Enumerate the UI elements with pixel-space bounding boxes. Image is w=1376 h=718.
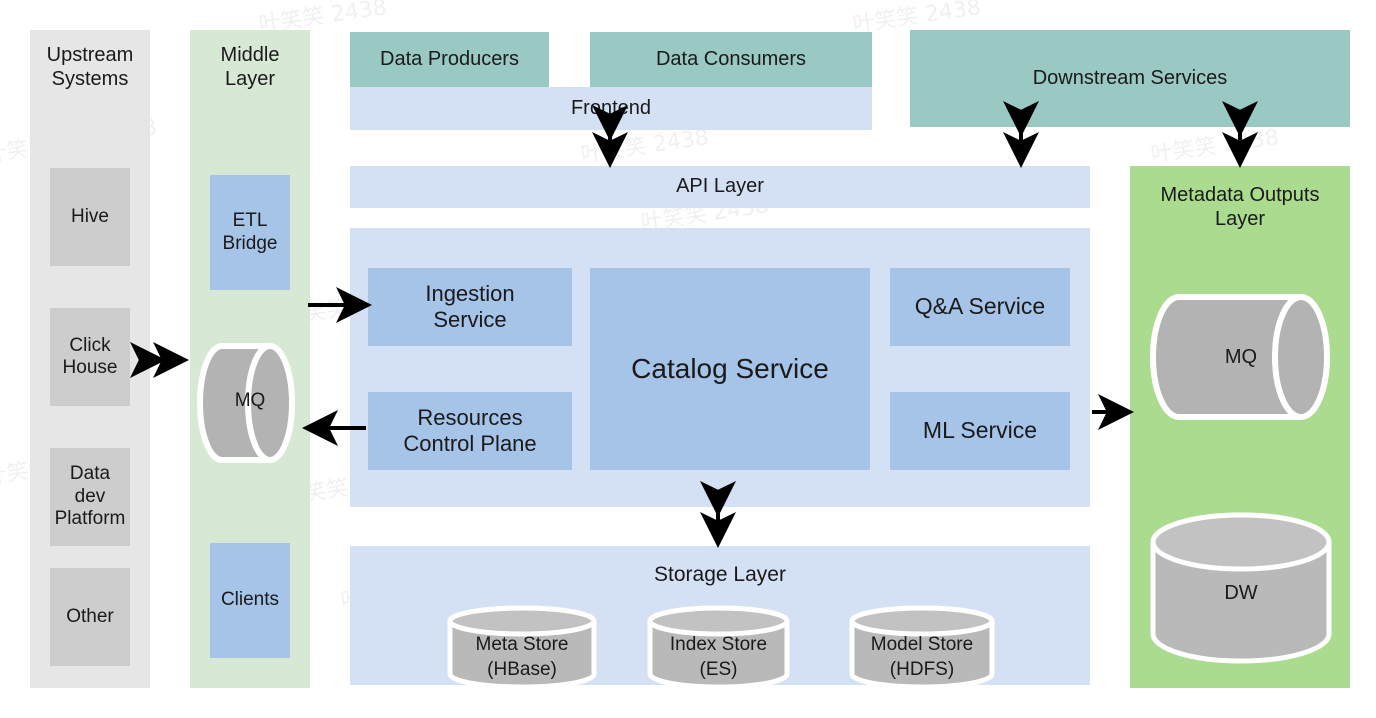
upstream-node-data-dev-platform[interactable]: Data dev Platform (50, 448, 130, 546)
resources-line2: Control Plane (403, 431, 536, 456)
clients-label: Clients (221, 589, 279, 611)
index-store-line1: Index Store (670, 634, 767, 655)
api-layer-label: API Layer (676, 175, 764, 199)
data-consumers-box[interactable]: Data Consumers (590, 32, 872, 87)
hive-label: Hive (71, 206, 109, 227)
clickhouse-label-line2: House (63, 357, 118, 378)
downstream-services-box[interactable]: Downstream Services (910, 30, 1350, 127)
metadata-outputs-line1: Metadata Outputs (1161, 184, 1320, 206)
ml-service-label: ML Service (923, 417, 1037, 444)
resources-control-plane-box[interactable]: Resources Control Plane (368, 392, 572, 470)
storage-layer-title: Storage Layer (350, 563, 1090, 588)
datadev-label-line2: dev (75, 486, 106, 507)
storage-layer-label: Storage Layer (654, 563, 786, 586)
model-store-line2: (HDFS) (890, 659, 954, 680)
qa-service-box[interactable]: Q&A Service (890, 268, 1070, 346)
index-store-cylinder[interactable]: Index Store (ES) (646, 605, 791, 690)
other-label: Other (66, 606, 114, 627)
clickhouse-label-line1: Click (69, 335, 110, 356)
catalog-service-label: Catalog Service (631, 352, 829, 385)
upstream-node-other[interactable]: Other (50, 568, 130, 666)
meta-store-line1: Meta Store (476, 634, 569, 655)
meta-store-label: Meta Store (HBase) (446, 633, 598, 682)
ingestion-service-box[interactable]: Ingestion Service (368, 268, 572, 346)
upstream-node-clickhouse[interactable]: Click House (50, 308, 130, 406)
datadev-label-line1: Data (70, 463, 110, 484)
model-store-cylinder[interactable]: Model Store (HDFS) (848, 605, 996, 690)
downstream-services-label: Downstream Services (1033, 67, 1228, 91)
frontend-label: Frontend (571, 97, 651, 121)
meta-store-line2: (HBase) (487, 659, 557, 680)
middle-title-line2: Layer (225, 68, 275, 90)
middle-title-line1: Middle (221, 44, 280, 66)
upstream-title-line1: Upstream (47, 44, 134, 66)
middle-layer-mq-cylinder[interactable]: MQ (208, 340, 292, 466)
dw-cylinder[interactable]: DW (1148, 512, 1334, 664)
datadev-label-line3: Platform (55, 508, 126, 529)
dw-label: DW (1148, 582, 1334, 605)
qa-service-label: Q&A Service (915, 293, 1045, 320)
ingestion-line2: Service (433, 307, 506, 332)
frontend-box[interactable]: Frontend (350, 87, 872, 130)
upstream-systems-title: Upstream Systems (30, 44, 150, 91)
api-layer-box[interactable]: API Layer (350, 166, 1090, 208)
model-store-label: Model Store (HDFS) (848, 633, 996, 682)
metadata-outputs-title: Metadata Outputs Layer (1130, 184, 1350, 231)
data-producers-box[interactable]: Data Producers (350, 32, 549, 87)
meta-store-cylinder[interactable]: Meta Store (HBase) (446, 605, 598, 690)
upstream-node-hive[interactable]: Hive (50, 168, 130, 266)
middle-mq-label: MQ (208, 390, 292, 412)
ingestion-line1: Ingestion (425, 281, 514, 306)
middle-layer-title: Middle Layer (190, 44, 310, 91)
ml-service-box[interactable]: ML Service (890, 392, 1070, 470)
data-producers-label: Data Producers (380, 48, 519, 72)
index-store-label: Index Store (ES) (646, 633, 791, 682)
etl-bridge-line2: Bridge (223, 233, 278, 254)
catalog-service-box[interactable]: Catalog Service (590, 268, 870, 470)
index-store-line2: (ES) (700, 659, 738, 680)
metadata-mq-cylinder[interactable]: MQ (1153, 292, 1329, 422)
upstream-title-line2: Systems (52, 68, 129, 90)
model-store-line1: Model Store (871, 634, 973, 655)
data-consumers-label: Data Consumers (656, 48, 806, 72)
clients-node[interactable]: Clients (210, 543, 290, 658)
etl-bridge-node[interactable]: ETL Bridge (210, 175, 290, 290)
etl-bridge-line1: ETL (233, 210, 268, 231)
metadata-outputs-line2: Layer (1215, 208, 1265, 230)
metadata-mq-label: MQ (1153, 346, 1329, 369)
resources-line1: Resources (417, 405, 522, 430)
